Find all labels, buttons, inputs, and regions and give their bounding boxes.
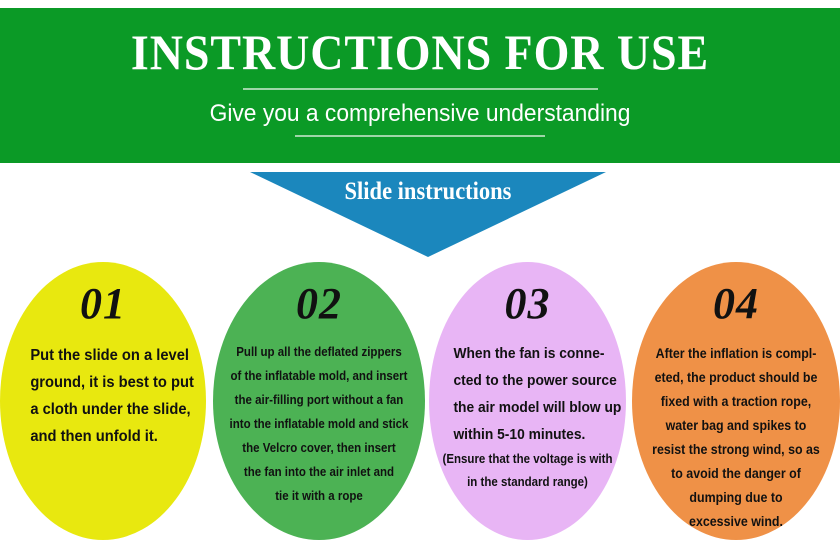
step-text-line: water bag and spikes to [644,414,828,438]
step-text-line: (Ensure that the voltage is with [441,448,615,471]
step-text-line: the air-filling port without a fan [225,388,413,412]
step-text-line: the Velcro cover, then insert [225,436,413,460]
step-number-01: 01 [0,262,206,326]
step-text-04: After the inflation is compl- eted, the … [640,326,831,534]
step-text-line: of the inflatable mold, and insert [225,364,413,388]
step-text-02: Pull up all the deflated zippers of the … [221,326,416,508]
step-text-line: dumping due to [644,486,828,510]
step-text-line: When the fan is conne- [441,340,615,367]
step-text-line: within 5-10 minutes. [441,421,615,448]
step-text-line: eted, the product should be [644,366,828,390]
step-text-line: After the inflation is compl- [644,342,828,366]
step-text-03: When the fan is conne- cted to the power… [437,326,618,494]
steps-row: 01 Put the slide on a level ground, it i… [0,262,840,542]
step-number-02: 02 [213,262,425,326]
step-text-line: fixed with a traction rope, [644,390,828,414]
step-card-03: 03 When the fan is conne- cted to the po… [429,262,626,540]
slide-instructions-label: Slide instructions [268,177,588,207]
step-text-line: and then unfold it. [12,423,194,450]
step-text-line: ground, it is best to put [12,369,194,396]
step-text-line: a cloth under the slide, [12,396,194,423]
step-text-line: tie it with a rope [225,484,413,508]
step-card-02: 02 Pull up all the deflated zippers of t… [213,262,425,540]
header-banner: INSTRUCTIONS FOR USE Give you a comprehe… [0,8,840,163]
instructions-infographic: INSTRUCTIONS FOR USE Give you a comprehe… [0,0,840,553]
step-text-line: Put the slide on a level [12,342,194,369]
step-number-03: 03 [429,262,626,326]
step-text-line: in the standard range) [441,471,615,494]
slide-instructions-banner: Slide instructions [250,172,606,257]
page-subtitle: Give you a comprehensive understanding [21,90,819,129]
title-divider-bottom [295,135,545,137]
step-text-line: to avoid the danger of [644,462,828,486]
step-text-line: the fan into the air inlet and [225,460,413,484]
page-title: INSTRUCTIONS FOR USE [34,8,807,80]
step-card-04: 04 After the inflation is compl- eted, t… [632,262,840,540]
step-text-line: resist the strong wind, so as [644,438,828,462]
step-number-04: 04 [632,262,840,326]
step-card-01: 01 Put the slide on a level ground, it i… [0,262,206,540]
step-text-line: into the inflatable mold and stick [225,412,413,436]
step-text-01: Put the slide on a level ground, it is b… [8,326,198,450]
step-text-line: Pull up all the deflated zippers [225,340,413,364]
step-text-line: cted to the power source [441,367,615,394]
step-text-line: the air model will blow up [441,394,615,421]
step-text-line: excessive wind. [644,510,828,534]
